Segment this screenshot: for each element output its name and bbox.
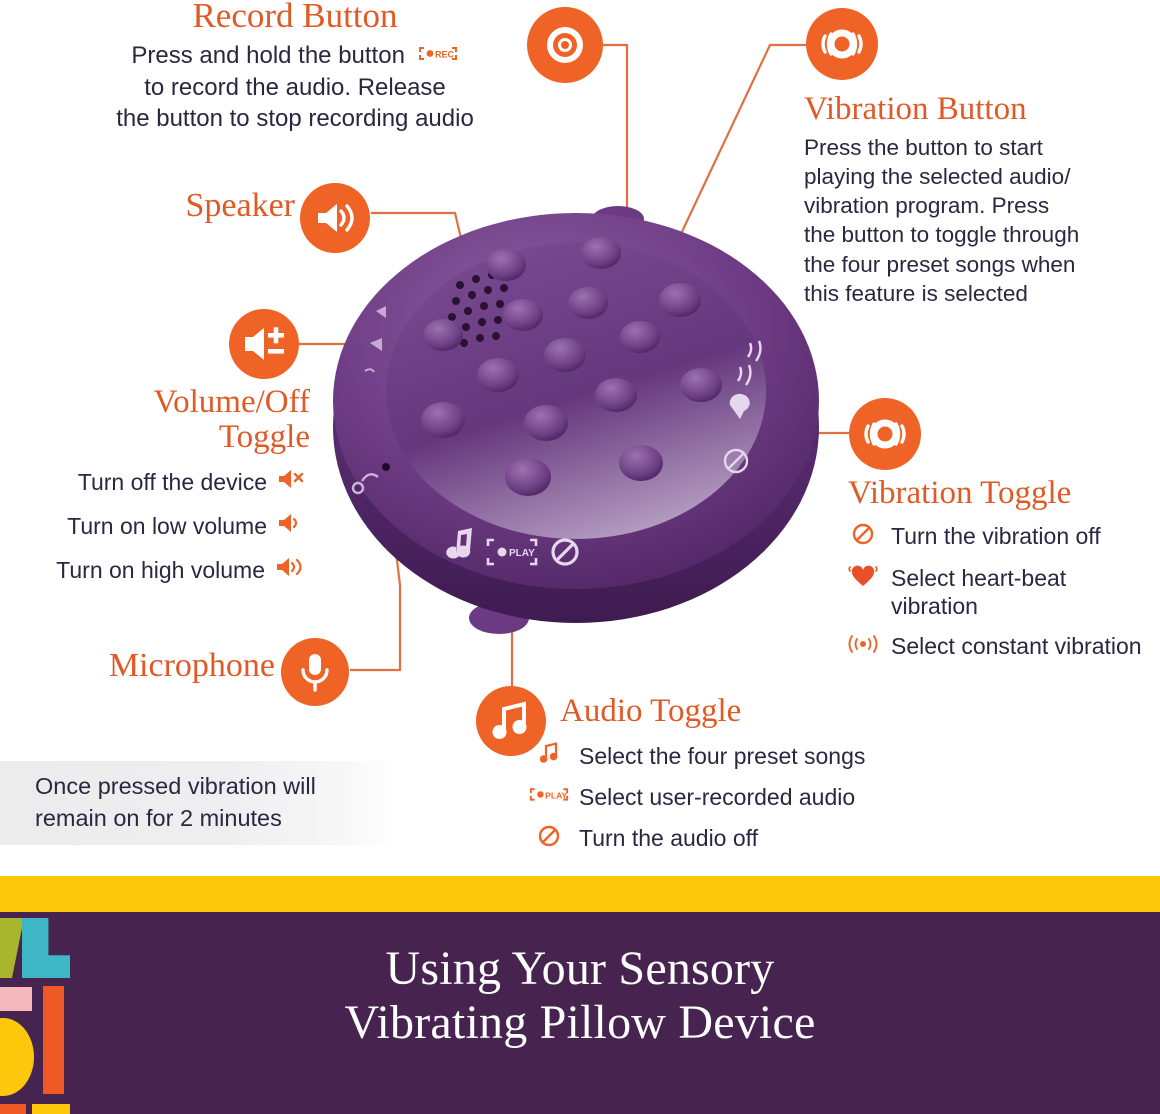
vibration-line-4: the button to toggle through [804,220,1149,249]
record-line-3: the button to stop recording audio [60,103,530,134]
prohibition-icon [528,824,570,848]
banner-yellow-stripe [0,876,1160,912]
audio-toggle-items: Select the four preset songs PLAY Select… [528,742,948,854]
signal-waves-icon [844,632,882,656]
vibration-line-5: the four preset songs when [804,250,1149,279]
callout-record-button: Record Button Press and hold the button … [60,0,530,134]
volume-toggle-title-line1: Volume/Off [20,385,310,420]
banner-title-line1: Using Your Sensory [0,942,1160,996]
rec-inline-badge: REC [417,41,459,72]
logo-block-yellow-square [32,1104,70,1114]
svg-text:REC: REC [435,49,455,59]
audio-item-1-label: Select user-recorded audio [579,783,855,813]
logo-block-orange-square [0,1104,26,1114]
note-line-2: remain on for 2 minutes [35,803,316,835]
vibrating-pillow-device: PLAY [318,205,838,645]
record-target-icon [527,7,603,83]
infographic-root: PLAY Record Button [0,0,1160,1114]
volume-plus-minus-icon [229,309,299,379]
vibration-disc-icon [806,8,878,80]
microphone-title: Microphone [50,648,275,684]
list-item: Turn the audio off [528,824,948,854]
callout-volume-toggle: Volume/Off Toggle [20,385,310,454]
music-note-small-icon [528,742,570,764]
record-button-title: Record Button [60,0,530,35]
volume-toggle-title-line2: Toggle [20,420,310,455]
vibration-toggle-title: Vibration Toggle [848,476,1158,511]
callout-audio-toggle: Audio Toggle [560,694,960,729]
speaker-waves-icon [300,183,370,253]
callout-vibration-button: Vibration Button Press the button to sta… [804,92,1149,308]
list-item: Turn on low volume [10,512,305,542]
logo-block-pink [0,987,32,1011]
vibration-duration-note: Once pressed vibration will remain on fo… [0,761,400,845]
list-item: Select constant vibration [844,632,1156,660]
record-line-1: Press and hold the button [131,42,405,69]
vibration-toggle-disc-icon [849,398,921,470]
volume-toggle-items: Turn off the device Turn on low volume [10,468,305,586]
vib-item-0-label: Turn the vibration off [891,522,1101,552]
speaker-low-icon [277,512,305,539]
list-item: Select the four preset songs [528,742,948,772]
vibration-button-title: Vibration Button [804,92,1149,127]
vibration-line-1: Press the button to start [804,133,1149,162]
banner-title: Using Your Sensory Vibrating Pillow Devi… [0,912,1160,1050]
list-item: Turn off the device [10,468,305,498]
list-item: Turn on high volume [10,556,305,586]
record-line-2: to record the audio. Release [60,72,530,103]
banner-title-line2: Vibrating Pillow Device [0,996,1160,1050]
callout-vibration-toggle: Vibration Toggle [848,476,1158,511]
vib-item-2-label: Select constant vibration [891,632,1142,660]
audio-toggle-title: Audio Toggle [560,694,960,729]
svg-text:PLAY: PLAY [509,548,535,559]
vibration-line-3: vibration program. Press [804,191,1149,220]
volume-item-0-label: Turn off the device [78,468,267,498]
audio-item-0-label: Select the four preset songs [579,742,865,772]
audio-item-2-label: Turn the audio off [579,824,758,854]
list-item: Turn the vibration off [844,522,1156,552]
heartbeat-icon [844,564,882,588]
prohibition-icon [844,522,882,546]
logo-block-orange-bar [43,986,64,1094]
volume-item-1-label: Turn on low volume [67,512,267,542]
speaker-mute-icon [277,468,305,495]
speaker-title: Speaker [95,188,295,224]
microphone-icon [281,638,349,706]
vibration-line-6: this feature is selected [804,279,1149,308]
list-item: Select heart-beat vibration [844,564,1156,620]
volume-item-2-label: Turn on high volume [56,556,265,586]
banner: Using Your Sensory Vibrating Pillow Devi… [0,912,1160,1114]
vib-item-1-label: Select heart-beat vibration [891,564,1156,620]
play-bracket-icon: PLAY [528,783,570,805]
note-line-1: Once pressed vibration will [35,771,316,803]
list-item: PLAY Select user-recorded audio [528,783,948,813]
vibration-toggle-items: Turn the vibration off Select heart-beat… [844,522,1156,660]
speaker-high-icon [275,556,305,583]
svg-text:PLAY: PLAY [545,790,567,800]
vibration-line-2: playing the selected audio/ [804,162,1149,191]
